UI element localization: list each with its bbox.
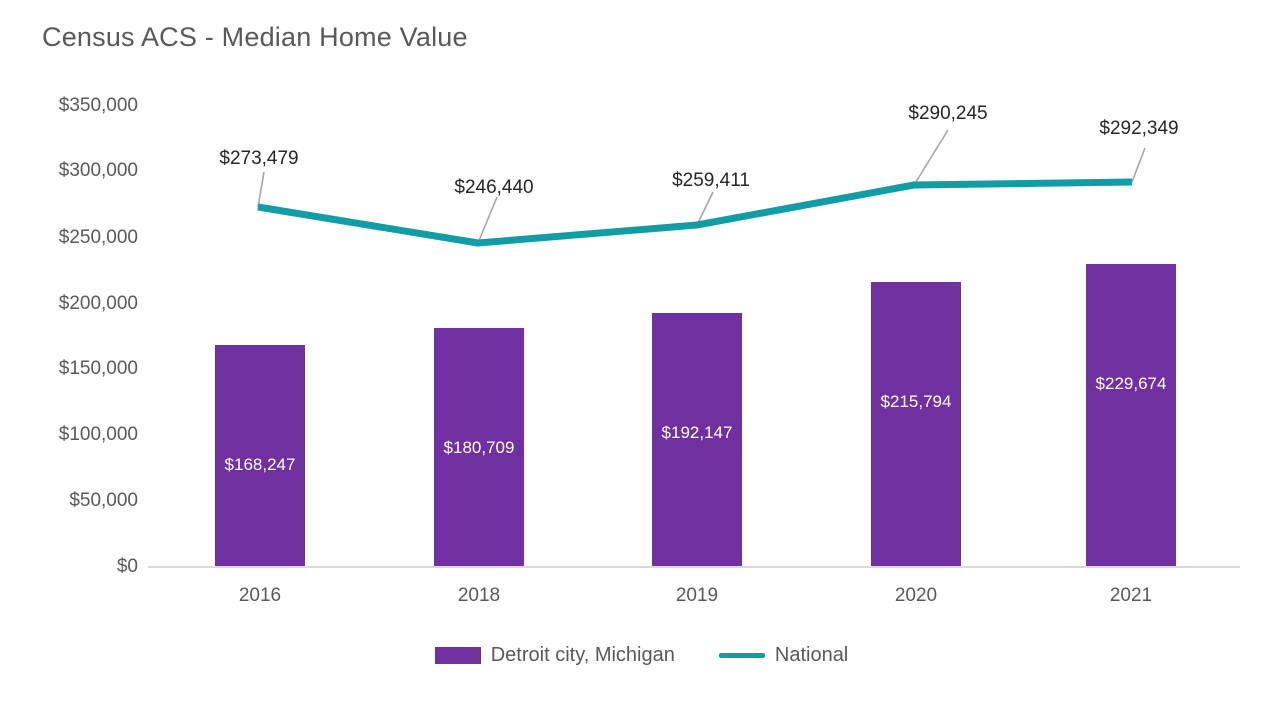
bar-swatch-icon: [435, 647, 481, 664]
bar-value-label: $168,247: [215, 455, 305, 475]
line-value-label-2019: $259,411: [672, 170, 750, 192]
x-axis-tick-2021: 2021: [1110, 585, 1152, 607]
y-axis-tick-label: $150,000: [18, 358, 138, 380]
bar-2020[interactable]: $215,794: [871, 282, 961, 566]
line-value-label-2020: $290,245: [908, 103, 987, 125]
chart-container: Census ACS - Median Home Value $350,000 …: [0, 0, 1283, 724]
y-axis-tick-label: $300,000: [18, 160, 138, 182]
x-axis-tick-2019: 2019: [676, 585, 718, 607]
line-value-label-2016: $273,479: [219, 148, 298, 170]
y-axis-tick-label: $350,000: [18, 95, 138, 117]
bar-2018[interactable]: $180,709: [434, 328, 524, 566]
x-axis-line: [148, 566, 1240, 568]
bar-value-label: $229,674: [1086, 374, 1176, 394]
y-axis-tick-label: $0: [18, 556, 138, 578]
bar-2021[interactable]: $229,674: [1086, 264, 1176, 566]
line-value-label-2018: $246,440: [454, 177, 533, 199]
plot-area: $168,247 $180,709 $192,147 $215,794 $229…: [148, 90, 1238, 566]
chart-legend: Detroit city, Michigan National: [0, 644, 1283, 667]
bar-value-label: $180,709: [434, 438, 524, 458]
y-axis-tick-label: $250,000: [18, 227, 138, 249]
line-swatch-icon: [719, 653, 765, 658]
legend-label: Detroit city, Michigan: [491, 644, 675, 667]
x-axis-tick-2016: 2016: [239, 585, 281, 607]
x-axis-tick-2020: 2020: [895, 585, 937, 607]
y-axis-tick-label: $50,000: [18, 490, 138, 512]
bar-2016[interactable]: $168,247: [215, 345, 305, 566]
bar-value-label: $215,794: [871, 392, 961, 412]
line-value-label-2021: $292,349: [1099, 118, 1178, 140]
legend-item-national[interactable]: National: [719, 644, 848, 667]
bar-value-label: $192,147: [652, 423, 742, 443]
y-axis-tick-label: $100,000: [18, 424, 138, 446]
legend-item-detroit[interactable]: Detroit city, Michigan: [435, 644, 675, 667]
bar-2019[interactable]: $192,147: [652, 313, 742, 566]
y-axis-tick-label: $200,000: [18, 293, 138, 315]
y-axis: $350,000 $300,000 $250,000 $200,000 $150…: [18, 0, 138, 724]
legend-label: National: [775, 644, 848, 667]
x-axis-tick-2018: 2018: [458, 585, 500, 607]
